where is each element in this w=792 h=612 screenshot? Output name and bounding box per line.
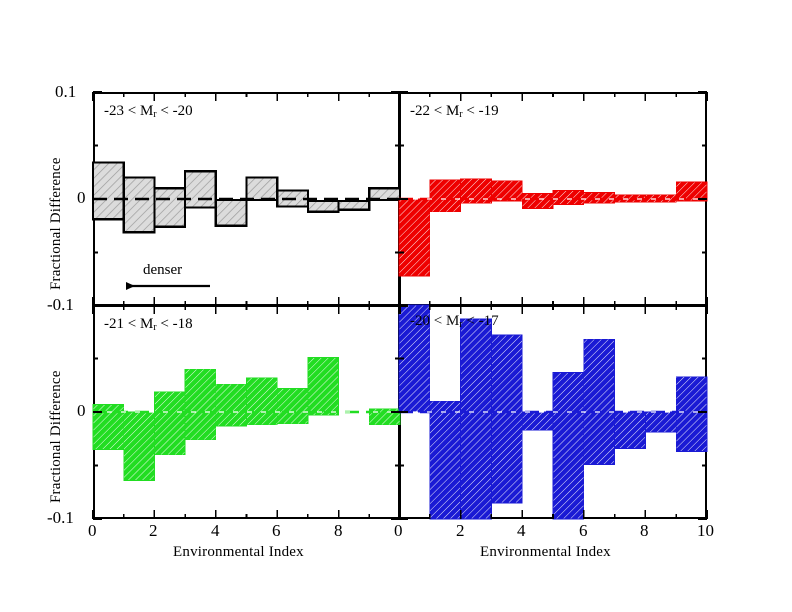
xtick-right-8: 8 bbox=[640, 521, 649, 541]
xtick-right-0: 0 bbox=[394, 521, 403, 541]
panel-tag-bottom-left: -21 < Mr < -18 bbox=[104, 316, 193, 333]
figure-root: Fractional Difference Fractional Differe… bbox=[0, 0, 792, 612]
panel-bottom-left bbox=[93, 305, 400, 519]
panel-tag-top-right: -22 < Mr < -19 bbox=[410, 103, 499, 120]
panel-top-right bbox=[399, 92, 707, 306]
xtick-right-10: 10 bbox=[697, 521, 714, 541]
xtick-left-0: 0 bbox=[88, 521, 97, 541]
ytick-bottom--0.1: -0.1 bbox=[47, 508, 74, 528]
tag-suffix-bl: < -18 bbox=[157, 316, 193, 332]
xtick-right-4: 4 bbox=[517, 521, 526, 541]
panel-top-left bbox=[93, 92, 400, 306]
ytick-bottom-0: 0 bbox=[77, 401, 86, 421]
xtick-right-6: 6 bbox=[579, 521, 588, 541]
panel-tag-bottom-right: -20 < Mr < -17 bbox=[410, 313, 499, 330]
xtick-right-2: 2 bbox=[456, 521, 465, 541]
xlabel-right: Environmental Index bbox=[480, 544, 611, 561]
tag-prefix-br: -20 < M bbox=[410, 313, 459, 329]
denser-label: denser bbox=[143, 262, 182, 279]
ylabel-top: Fractional Difference bbox=[48, 157, 65, 290]
panel-tag-top-left: -23 < Mr < -20 bbox=[104, 103, 193, 120]
ytick-mid--0.1: -0.1 bbox=[47, 295, 74, 315]
tag-prefix-tl: -23 < M bbox=[104, 103, 153, 119]
xlabel-left: Environmental Index bbox=[173, 544, 304, 561]
tag-suffix-br: < -17 bbox=[463, 313, 499, 329]
ytick-top-0: 0 bbox=[77, 188, 86, 208]
panel-bottom-right bbox=[399, 305, 707, 519]
ytick-top-0.1: 0.1 bbox=[55, 82, 76, 102]
tag-suffix-tl: < -20 bbox=[157, 103, 193, 119]
xtick-left-2: 2 bbox=[149, 521, 158, 541]
tag-prefix-bl: -21 < M bbox=[104, 316, 153, 332]
xtick-left-4: 4 bbox=[211, 521, 220, 541]
tag-suffix-tr: < -19 bbox=[463, 103, 499, 119]
tag-prefix-tr: -22 < M bbox=[410, 103, 459, 119]
ylabel-bottom: Fractional Difference bbox=[48, 370, 65, 503]
xtick-left-6: 6 bbox=[272, 521, 281, 541]
xtick-left-8: 8 bbox=[334, 521, 343, 541]
